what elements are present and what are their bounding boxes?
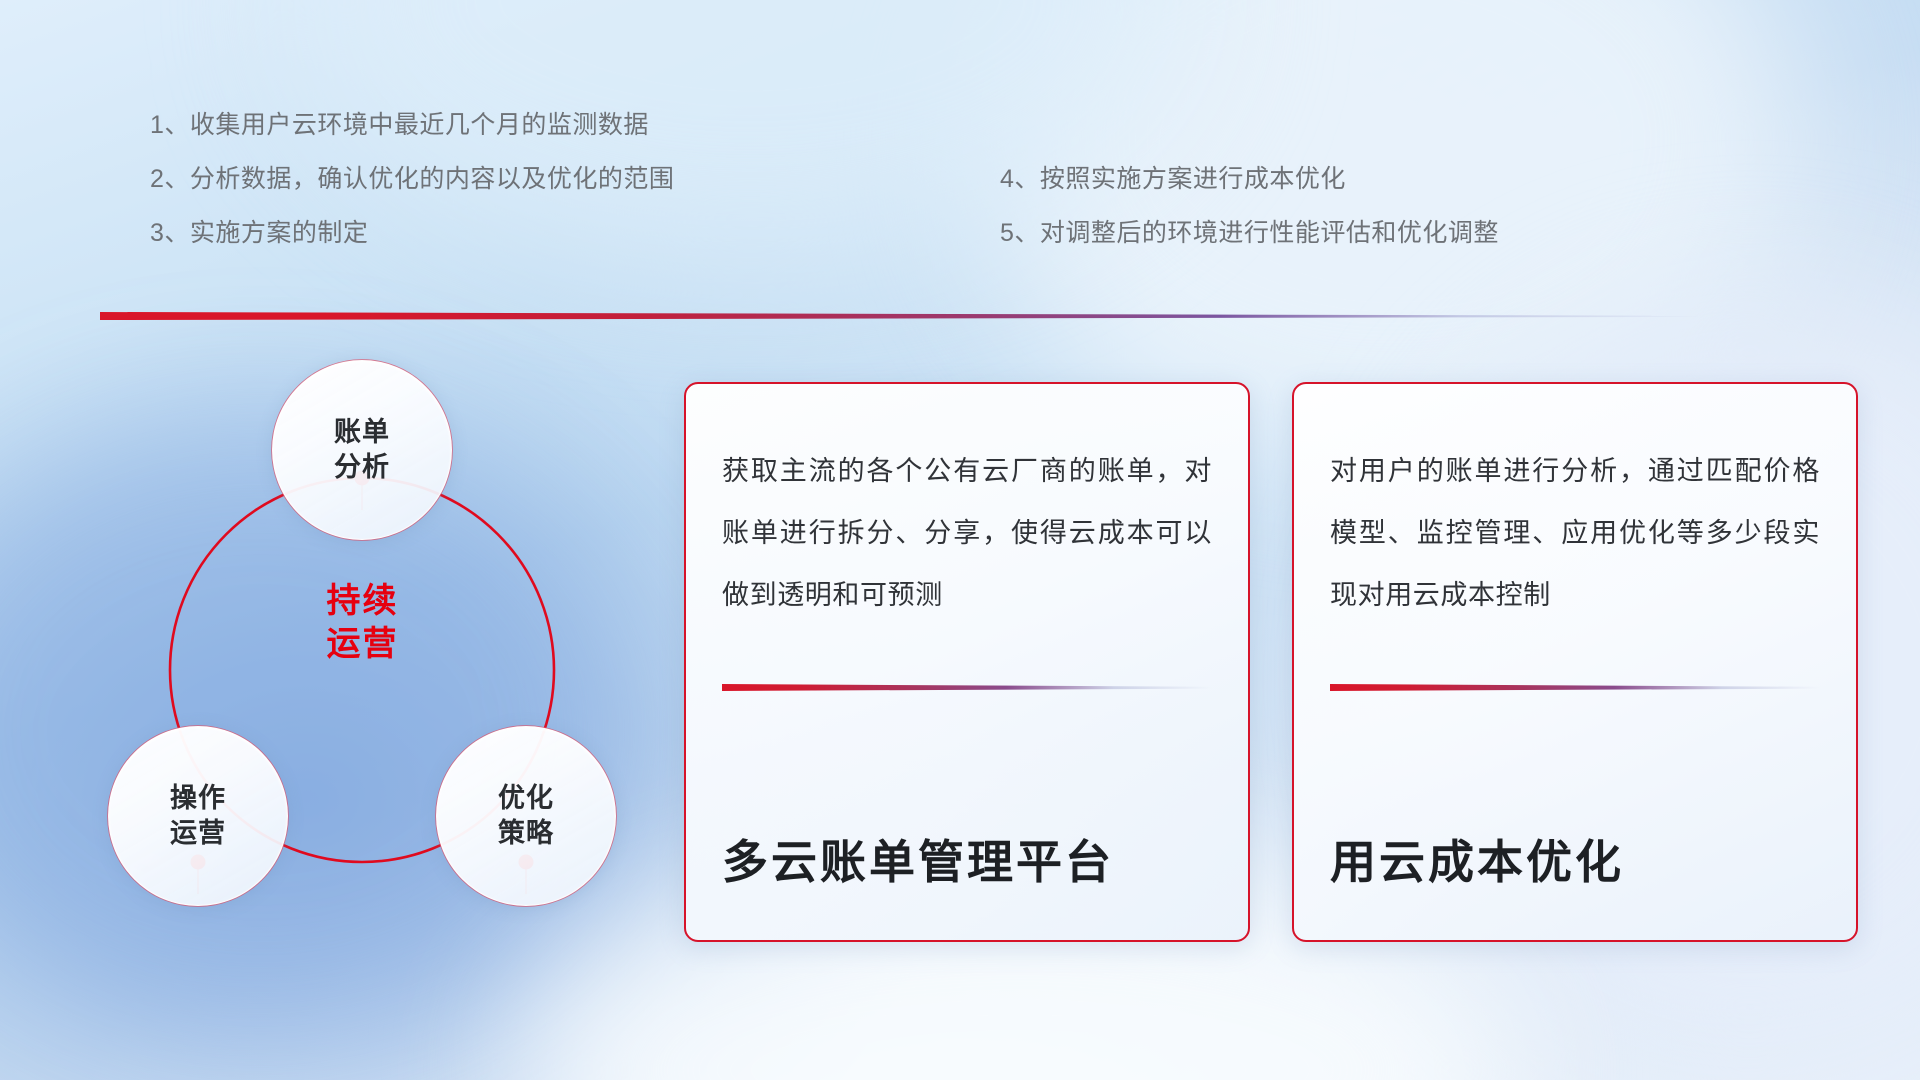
card-title: 多云账单管理平台 xyxy=(722,837,1212,888)
node-label-line-2: 策略 xyxy=(498,816,554,851)
center-label-line-2: 运营 xyxy=(275,623,450,666)
diagram-node-optimization-strategy[interactable]: 优化 策略 xyxy=(436,726,616,906)
divider-bar xyxy=(100,312,1700,320)
card-divider-rule xyxy=(722,684,1212,691)
process-step-item: 4、按照实施方案进行成本优化 xyxy=(1000,152,1499,206)
feature-card-multicloud-billing[interactable]: 获取主流的各个公有云厂商的账单，对账单进行拆分、分享，使得云成本可以做到透明和可… xyxy=(684,382,1250,942)
card-body-text: 对用户的账单进行分析，通过匹配价格模型、监控管理、应用优化等多少段实现对用云成本… xyxy=(1330,440,1820,652)
process-steps-left: 1、收集用户云环境中最近几个月的监测数据 2、分析数据，确认优化的内容以及优化的… xyxy=(150,98,674,260)
node-label-line-1: 优化 xyxy=(498,781,554,816)
card-body-text: 获取主流的各个公有云厂商的账单，对账单进行拆分、分享，使得云成本可以做到透明和可… xyxy=(722,440,1212,652)
process-step-item: 5、对调整后的环境进行性能评估和优化调整 xyxy=(1000,206,1499,260)
node-label-line-1: 操作 xyxy=(170,781,226,816)
center-label-line-1: 持续 xyxy=(275,580,450,623)
node-label-line-2: 分析 xyxy=(334,450,390,485)
node-label-line-1: 账单 xyxy=(334,415,390,450)
card-title: 用云成本优化 xyxy=(1330,837,1820,888)
feature-card-cost-optimization[interactable]: 对用户的账单进行分析，通过匹配价格模型、监控管理、应用优化等多少段实现对用云成本… xyxy=(1292,382,1858,942)
card-divider-rule xyxy=(1330,684,1820,691)
slide-canvas: 1、收集用户云环境中最近几个月的监测数据 2、分析数据，确认优化的内容以及优化的… xyxy=(0,0,1920,1080)
continuous-operation-diagram: 账单 分析 操作 运营 优化 策略 持续 运营 xyxy=(100,350,640,950)
diagram-node-bill-analysis[interactable]: 账单 分析 xyxy=(272,360,452,540)
node-label-line-2: 运营 xyxy=(170,816,226,851)
process-step-item: 3、实施方案的制定 xyxy=(150,206,674,260)
section-divider xyxy=(100,312,1700,320)
process-step-item: 1、收集用户云环境中最近几个月的监测数据 xyxy=(150,98,674,152)
process-step-item: 2、分析数据，确认优化的内容以及优化的范围 xyxy=(150,152,674,206)
diagram-center-label: 持续 运营 xyxy=(275,580,450,666)
process-steps-right: 4、按照实施方案进行成本优化 5、对调整后的环境进行性能评估和优化调整 xyxy=(1000,152,1499,260)
diagram-node-operations[interactable]: 操作 运营 xyxy=(108,726,288,906)
